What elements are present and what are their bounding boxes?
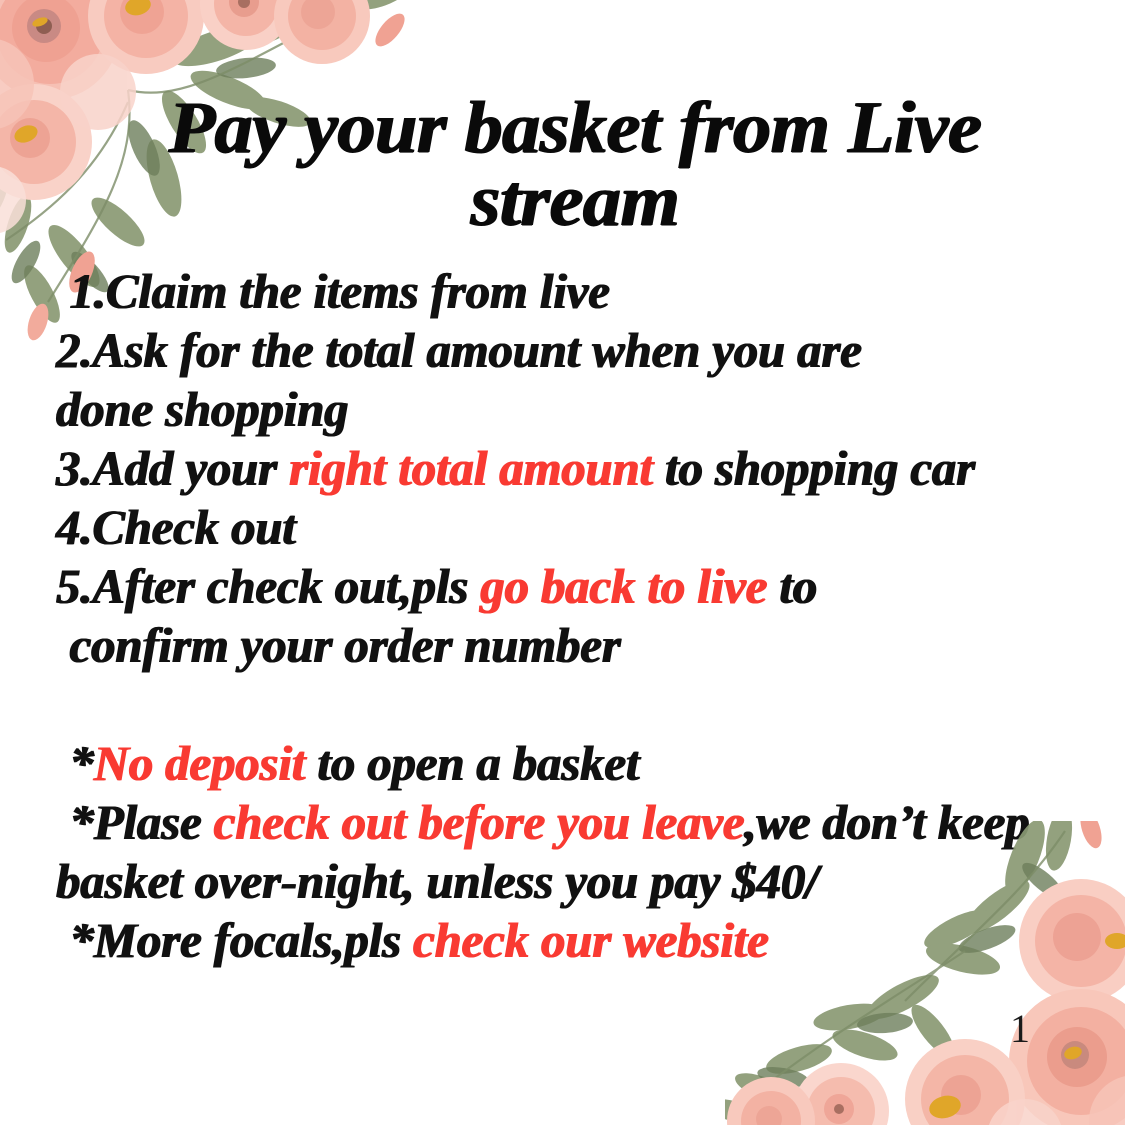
instructions-block: 1.Claim the items from live2.Ask for the…	[56, 262, 1116, 970]
poster-title: Pay your basket from Live stream	[55, 92, 1095, 237]
page-number: 1	[1010, 1005, 1030, 1052]
step-2-segment-0: 2.Ask for the total amount when you are	[56, 322, 862, 378]
step-3: 3.Add your right total amount to shoppin…	[56, 439, 1084, 498]
note-1: *No deposit to open a basket	[56, 734, 1084, 793]
note-2-segment-1: check out before you leave	[214, 794, 745, 850]
step-5-cont-segment-0: confirm your order number	[70, 617, 621, 673]
step-5-segment-2: to	[767, 558, 817, 614]
poster-canvas: Pay your basket from Live stream 1.Claim…	[0, 0, 1125, 1125]
note-2-cont: basket over-night, unless you pay $40/	[56, 852, 1084, 911]
title-line-1: Pay your basket from Live	[55, 92, 1095, 165]
note-2-cont-segment-0: basket over-night, unless you pay $40/	[56, 853, 819, 909]
step-1-segment-0: 1.Claim the items from live	[70, 263, 610, 319]
step-4: 4.Check out	[56, 498, 1084, 557]
section-spacer	[56, 675, 1116, 734]
step-2-cont-segment-0: done shopping	[56, 381, 348, 437]
note-3: *More focals,pls check our website	[56, 911, 1084, 970]
step-3-segment-2: to shopping car	[653, 440, 975, 496]
note-2-segment-2: ,we don’t keep	[744, 794, 1029, 850]
step-1: 1.Claim the items from live	[56, 262, 1084, 321]
note-2: *Plase check out before you leave,we don…	[56, 793, 1084, 852]
note-2-segment-0: *Plase	[70, 794, 214, 850]
note-1-segment-1: No deposit	[94, 735, 306, 791]
notes-list: *No deposit to open a basket*Plase check…	[56, 734, 1116, 970]
step-5-segment-1: go back to live	[480, 558, 767, 614]
step-2: 2.Ask for the total amount when you are	[56, 321, 1084, 380]
note-1-segment-2: to open a basket	[305, 735, 639, 791]
step-4-segment-0: 4.Check out	[56, 499, 296, 555]
step-3-segment-0: 3.Add your	[56, 440, 289, 496]
step-2-cont: done shopping	[56, 380, 1084, 439]
step-3-segment-1: right total amount	[289, 440, 653, 496]
step-5-segment-0: 5.After check out,pls	[56, 558, 480, 614]
step-5: 5.After check out,pls go back to live to	[56, 557, 1084, 616]
note-3-segment-0: *More focals,pls	[70, 912, 414, 968]
title-line-2: stream	[55, 165, 1095, 238]
numbered-steps-list: 1.Claim the items from live2.Ask for the…	[56, 262, 1116, 675]
note-1-segment-0: *	[70, 735, 94, 791]
note-3-segment-1: check our website	[413, 912, 769, 968]
step-5-cont: confirm your order number	[56, 616, 1084, 675]
